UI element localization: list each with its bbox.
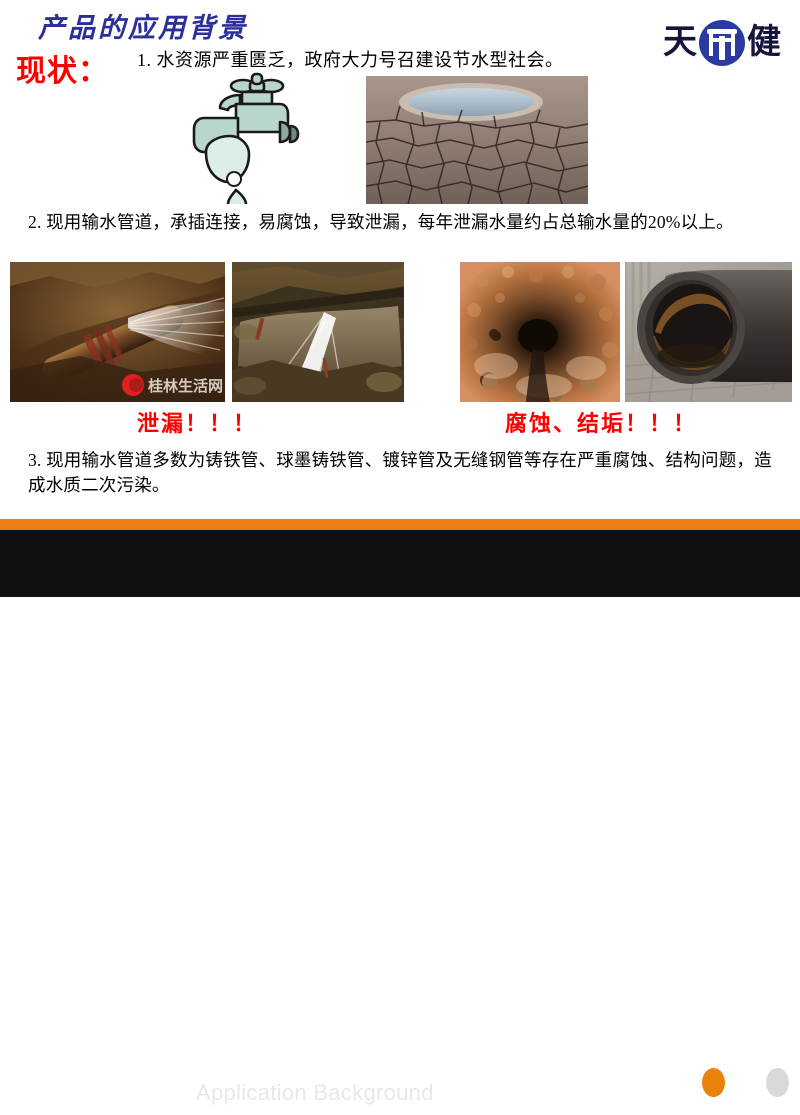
logo-char-right: 健 xyxy=(747,26,781,60)
company-logo: 天 健 xyxy=(648,18,796,68)
page-title: 产品的应用背景 xyxy=(38,6,248,45)
footer-dots xyxy=(702,1068,789,1097)
footer-dot-2 xyxy=(734,1068,757,1097)
footer-title-cn: 应用背景 xyxy=(56,1073,172,1115)
dripping-faucet-icon xyxy=(176,72,316,204)
annotation-corrosion: 腐蚀、结垢！！！ xyxy=(505,406,697,438)
point-3-text: 3. 现用输水管道多数为铸铁管、球墨铸铁管、镀锌管及无缝钢管等存在严重腐蚀、结构… xyxy=(28,448,788,498)
corroded-pipe-interior-photo xyxy=(460,262,620,402)
footer-dot-active xyxy=(702,1068,725,1097)
tianjian-emblem-icon xyxy=(699,20,745,66)
footer-title-en: Application Background xyxy=(196,1080,434,1106)
slide-application-background: 产品的应用背景 天 健 现状： 1. 水资源严重匮乏，政府大力号召建设节水型社会… xyxy=(0,0,800,597)
footer-dot-3 xyxy=(766,1068,789,1097)
point-1-text: 1. 水资源严重匮乏，政府大力号召建设节水型社会。 xyxy=(137,46,564,72)
svg-text:桂林生活网: 桂林生活网 xyxy=(147,377,223,395)
point-2-text: 2. 现用输水管道，承插连接，易腐蚀，导致泄漏，每年泄漏水量约占总输水量的20%… xyxy=(28,210,788,235)
burst-pipe-spray-photo xyxy=(232,262,404,402)
scaled-pipe-section-photo xyxy=(625,262,792,402)
footer-accent-stripe xyxy=(0,519,800,530)
footer-bar: 应用背景 Application Background xyxy=(0,530,800,597)
status-label: 现状： xyxy=(16,46,109,90)
logo-char-left: 天 xyxy=(663,26,697,60)
drought-photo xyxy=(366,76,588,204)
leaking-pipe-photo: 桂林生活网 xyxy=(10,262,225,402)
annotation-leak: 泄漏！！！ xyxy=(137,406,257,438)
